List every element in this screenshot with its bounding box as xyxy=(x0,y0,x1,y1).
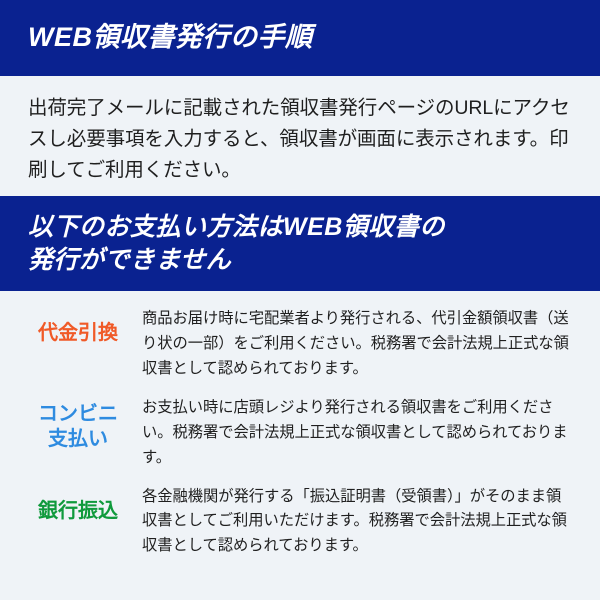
intro-section: 出荷完了メールに記載された領収書発行ページのURLにアクセスし必要事項を入力する… xyxy=(0,76,600,196)
receipt-info-page: WEB領収書発行の手順 出荷完了メールに記載された領収書発行ページのURLにアク… xyxy=(0,0,600,600)
payment-method-label-konbini: コンビニ 支払い xyxy=(14,396,142,453)
notice-title: 以下のお支払い方法はWEB領収書の 発行ができません xyxy=(28,211,445,277)
payment-methods-list: 代金引換 商品お届け時に宅配業者より発行される、代引金額領収書（送り状の一部）を… xyxy=(0,291,600,559)
payment-method-label-bank: 銀行振込 xyxy=(14,485,142,525)
intro-paragraph: 出荷完了メールに記載された領収書発行ページのURLにアクセスし必要事項を入力する… xyxy=(28,93,574,185)
page-title: WEB領収書発行の手順 xyxy=(28,23,313,53)
payment-method-description-konbini: お支払い時に店頭レジより発行される領収書をご利用ください。税務署で会計法規上正式… xyxy=(142,396,586,471)
payment-method-label-cod: 代金引換 xyxy=(14,307,142,347)
payment-method-description-bank: 各金融機関が発行する「振込証明書（受領書）」がそのまま領収書としてご利用いただけ… xyxy=(142,485,586,560)
notice-header-band: 以下のお支払い方法はWEB領収書の 発行ができません xyxy=(0,196,600,291)
page-header-band: WEB領収書発行の手順 xyxy=(0,0,600,76)
payment-method-row-bank: 銀行振込 各金融機関が発行する「振込証明書（受領書）」がそのまま領収書としてご利… xyxy=(14,485,586,560)
payment-method-description-cod: 商品お届け時に宅配業者より発行される、代引金額領収書（送り状の一部）をご利用くだ… xyxy=(142,307,586,382)
payment-method-row-cod: 代金引換 商品お届け時に宅配業者より発行される、代引金額領収書（送り状の一部）を… xyxy=(14,307,586,382)
payment-method-row-konbini: コンビニ 支払い お支払い時に店頭レジより発行される領収書をご利用ください。税務… xyxy=(14,396,586,471)
